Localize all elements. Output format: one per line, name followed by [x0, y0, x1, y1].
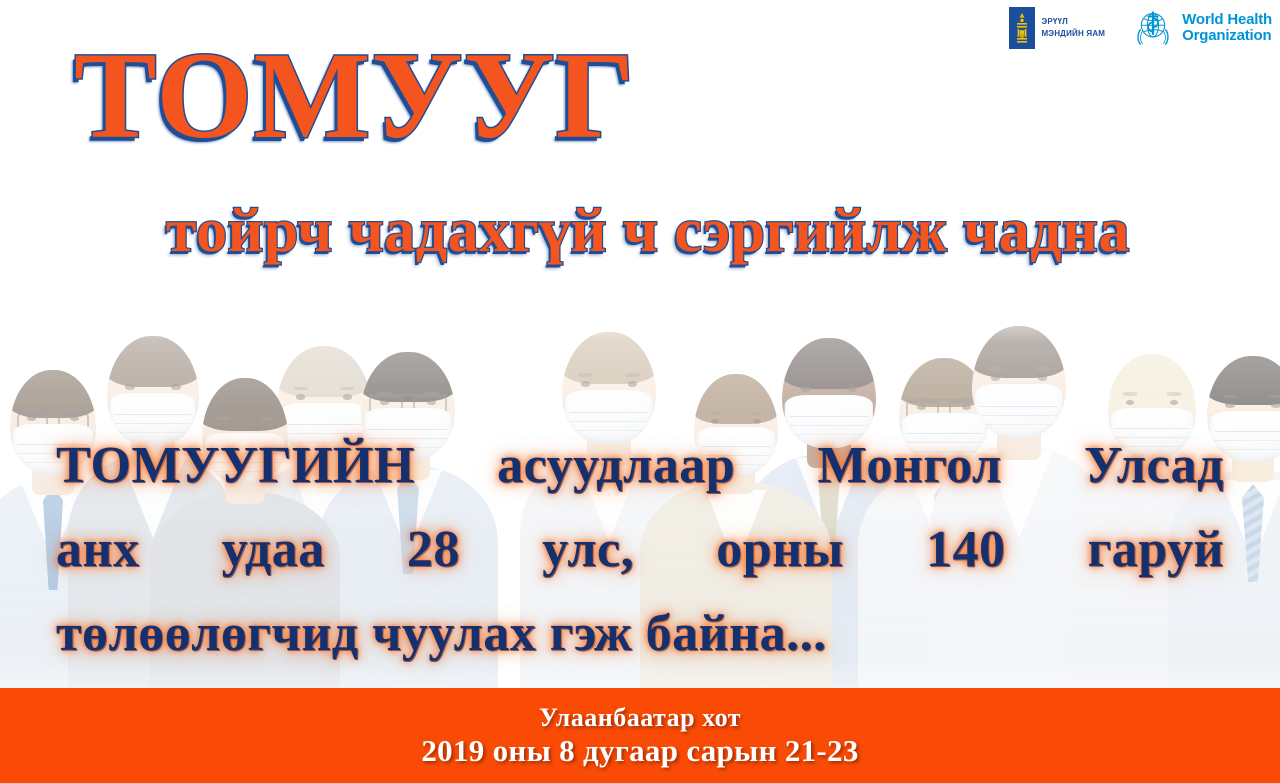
- body-word: удаа: [222, 508, 325, 592]
- poster-canvas: ЭРҮҮЛ МЭНДИЙН ЯАМ: [0, 0, 1280, 783]
- who-wordmark: World Health Organization: [1182, 12, 1272, 44]
- headline-secondary: тойрч чадахгүй ч сэргийлж чадна: [166, 200, 1130, 262]
- body-line-2: анх удаа 28 улс, орны 140 гаруй: [56, 508, 1224, 592]
- body-word: 28: [407, 508, 460, 592]
- body-word: ТОМУУГИЙН: [56, 424, 415, 508]
- headline-primary: ТОМУУГ: [74, 34, 635, 158]
- ministry-name-text: ЭРҮҮЛ МЭНДИЙН ЯАМ: [1041, 16, 1105, 39]
- body-copy-block: ТОМУУГИЙН асуудлаар Монгол Улсад анх уда…: [56, 424, 1224, 676]
- body-word: асуудлаар: [497, 424, 735, 508]
- who-emblem-icon: [1131, 6, 1175, 50]
- body-word: 140: [926, 508, 1006, 592]
- who-line-1: World Health: [1182, 12, 1272, 28]
- ministry-line-2: МЭНДИЙН ЯАМ: [1041, 28, 1105, 40]
- logo-bar: ЭРҮҮЛ МЭНДИЙН ЯАМ: [1009, 6, 1272, 50]
- mongolia-ministry-of-health-logo: ЭРҮҮЛ МЭНДИЙН ЯАМ: [1009, 7, 1105, 49]
- body-word: Улсад: [1084, 424, 1224, 508]
- footer-bar: Улаанбаатар хот 2019 оны 8 дугаар сарын …: [0, 688, 1280, 783]
- footer-city-text: Улаанбаатар хот: [539, 703, 741, 732]
- body-word: гаруй: [1088, 508, 1224, 592]
- world-health-organization-logo: World Health Organization: [1131, 6, 1272, 50]
- footer-date-text: 2019 оны 8 дугаар сарын 21-23: [421, 734, 858, 769]
- body-word: орны: [716, 508, 843, 592]
- soyombo-symbol-icon: [1014, 12, 1030, 44]
- body-word: Монгол: [817, 424, 1001, 508]
- body-line-3: төлөөлөгчид чуулах гэж байна...: [56, 592, 1224, 676]
- body-line-1: ТОМУУГИЙН асуудлаар Монгол Улсад: [56, 424, 1224, 508]
- body-word: анх: [56, 508, 139, 592]
- ministry-line-1: ЭРҮҮЛ: [1041, 16, 1105, 28]
- who-line-2: Organization: [1182, 28, 1272, 44]
- body-word: улс,: [542, 508, 634, 592]
- soyombo-crest-icon: [1009, 7, 1035, 49]
